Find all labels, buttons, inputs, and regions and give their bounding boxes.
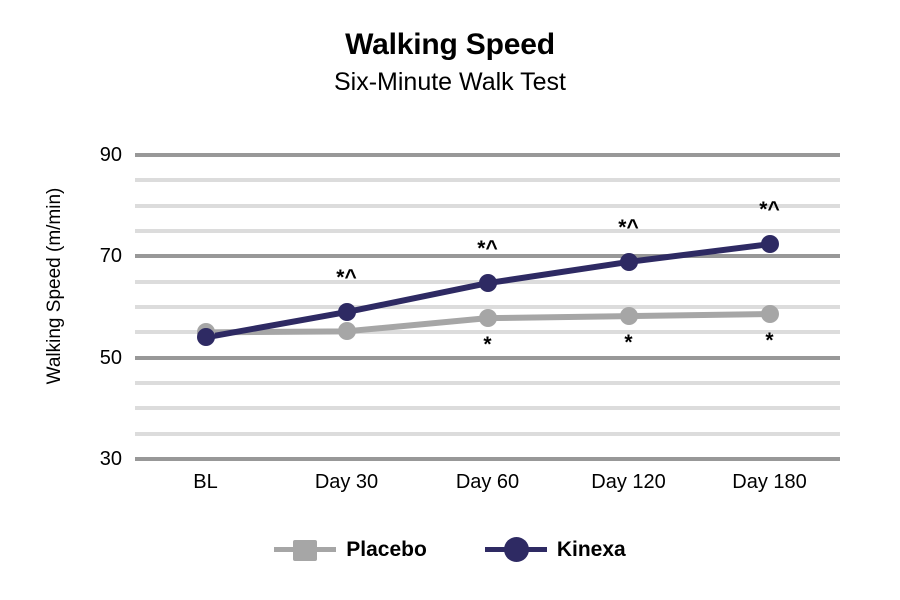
gridline-minor [135,406,840,410]
data-point-placebo[interactable] [479,309,497,327]
chart-title: Walking Speed [0,28,900,62]
x-tick-label: Day 30 [276,472,417,492]
y-tick-label: 30 [66,449,122,469]
x-tick-label: Day 60 [417,472,558,492]
data-point-kinexa[interactable] [761,235,779,253]
significance-marker: * [599,332,659,353]
chart-subtitle: Six-Minute Walk Test [0,68,900,97]
data-point-kinexa[interactable] [620,253,638,271]
gridline-minor [135,381,840,385]
y-tick-label: 90 [66,145,122,165]
legend-label-kinexa: Kinexa [557,539,626,560]
chart-container: Walking Speed Six-Minute Walk Test Walki… [0,0,900,600]
x-tick-label: BL [135,472,276,492]
significance-marker: *^ [599,217,659,238]
gridline-major [135,356,840,360]
x-tick-label: Day 180 [699,472,840,492]
data-point-kinexa[interactable] [197,328,215,346]
significance-marker: *^ [458,238,518,259]
significance-marker: *^ [317,267,377,288]
gridline-minor [135,432,840,436]
legend-swatch-placebo [274,536,336,562]
legend-item-placebo[interactable]: Placebo [274,536,427,562]
x-tick-label: Day 120 [558,472,699,492]
legend-item-kinexa[interactable]: Kinexa [485,536,626,562]
gridline-minor [135,178,840,182]
data-point-placebo[interactable] [338,322,356,340]
y-tick-label: 70 [66,246,122,266]
data-point-placebo[interactable] [620,307,638,325]
gridline-major [135,153,840,157]
y-axis-label: Walking Speed (m/min) [44,156,66,416]
data-point-kinexa[interactable] [338,303,356,321]
legend-label-placebo: Placebo [346,539,427,560]
significance-marker: * [740,330,800,351]
y-tick-label: 50 [66,348,122,368]
significance-marker: * [458,334,518,355]
chart-legend: Placebo Kinexa [0,536,900,562]
significance-marker: *^ [740,199,800,220]
gridline-major [135,457,840,461]
legend-swatch-kinexa [485,536,547,562]
gridline-minor [135,204,840,208]
gridline-minor [135,229,840,233]
data-point-kinexa[interactable] [479,274,497,292]
data-point-placebo[interactable] [761,305,779,323]
